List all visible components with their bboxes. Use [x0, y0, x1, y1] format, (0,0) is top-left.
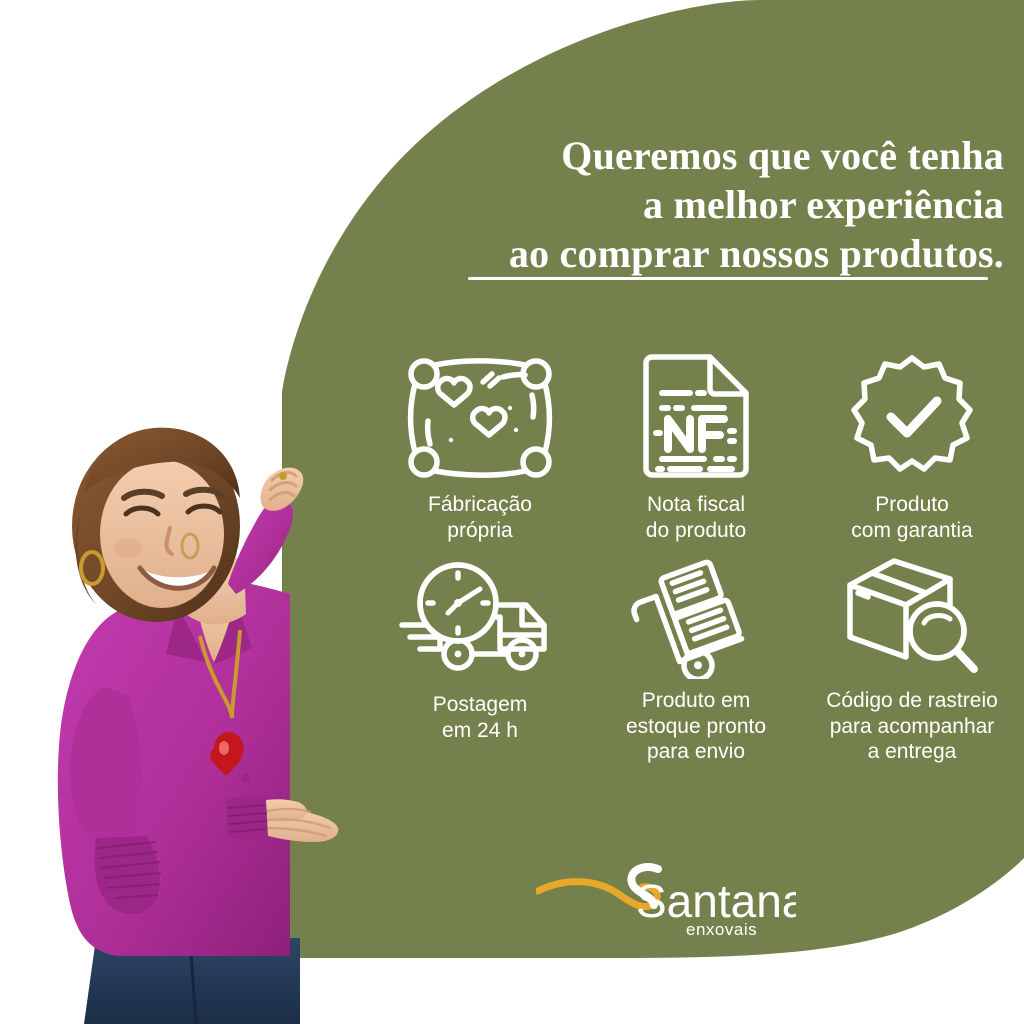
- feature-caption: Produto com garantia: [851, 492, 972, 543]
- feature-caption-line-2: estoque pronto: [626, 714, 766, 740]
- feature-grid: Fábricação própria: [372, 350, 1020, 765]
- feature-caption-line-1: Código de rastreio: [826, 688, 998, 714]
- headline-line-2: a melhor experiência: [404, 181, 1004, 230]
- hand-truck-icon: [625, 550, 767, 682]
- feature-caption: Nota fiscal do produto: [646, 492, 746, 543]
- feature-caption-line-1: Produto: [851, 492, 972, 518]
- feature-item-estoque-pronto: Produto em estoque pronto para envio: [588, 550, 804, 765]
- page-title: Queremos que você tenha a melhor experiê…: [404, 132, 1004, 278]
- feature-caption-line-2: própria: [428, 518, 532, 544]
- feature-caption-line-2: para acompanhar: [826, 714, 998, 740]
- promo-banner: Queremos que você tenha a melhor experiê…: [0, 0, 1024, 1024]
- headline-line-1: Queremos que você tenha: [404, 132, 1004, 181]
- feature-caption-line-2: com garantia: [851, 518, 972, 544]
- pillow-icon: [404, 350, 556, 486]
- feature-caption: Postagem em 24 h: [433, 692, 528, 743]
- feature-caption-line-1: Fábricação: [428, 492, 532, 518]
- feature-caption-line-3: a entrega: [826, 739, 998, 765]
- feature-caption-line-3: para envio: [626, 739, 766, 765]
- truck-clock-icon: [396, 550, 564, 686]
- feature-item-fabricacao-propria: Fábricação própria: [372, 350, 588, 550]
- brand-tagline: enxovais: [686, 920, 757, 939]
- feature-caption-line-2: em 24 h: [433, 718, 528, 744]
- badge-check-icon: [847, 350, 977, 486]
- invoice-nf-icon: [638, 350, 754, 486]
- box-search-icon: [840, 550, 984, 682]
- feature-item-codigo-rastreio: Código de rastreio para acompanhar a ent…: [804, 550, 1020, 765]
- feature-caption-line-1: Nota fiscal: [646, 492, 746, 518]
- headline-divider: [468, 277, 988, 280]
- feature-item-postagem-24h: Postagem em 24 h: [372, 550, 588, 765]
- feature-item-nota-fiscal: Nota fiscal do produto: [588, 350, 804, 550]
- feature-caption: Código de rastreio para acompanhar a ent…: [826, 688, 998, 765]
- woman-photo: [0, 418, 340, 1024]
- brand-logo: Santana enxovais: [536, 855, 796, 941]
- feature-row-1: Fábricação própria: [372, 350, 1020, 550]
- headline-line-3: ao comprar nossos produtos.: [404, 230, 1004, 279]
- feature-caption-line-2: do produto: [646, 518, 746, 544]
- feature-caption-line-1: Produto em: [626, 688, 766, 714]
- feature-item-produto-com-garantia: Produto com garantia: [804, 350, 1020, 550]
- feature-caption: Fábricação própria: [428, 492, 532, 543]
- feature-caption: Produto em estoque pronto para envio: [626, 688, 766, 765]
- feature-row-2: Postagem em 24 h: [372, 550, 1020, 765]
- feature-caption-line-1: Postagem: [433, 692, 528, 718]
